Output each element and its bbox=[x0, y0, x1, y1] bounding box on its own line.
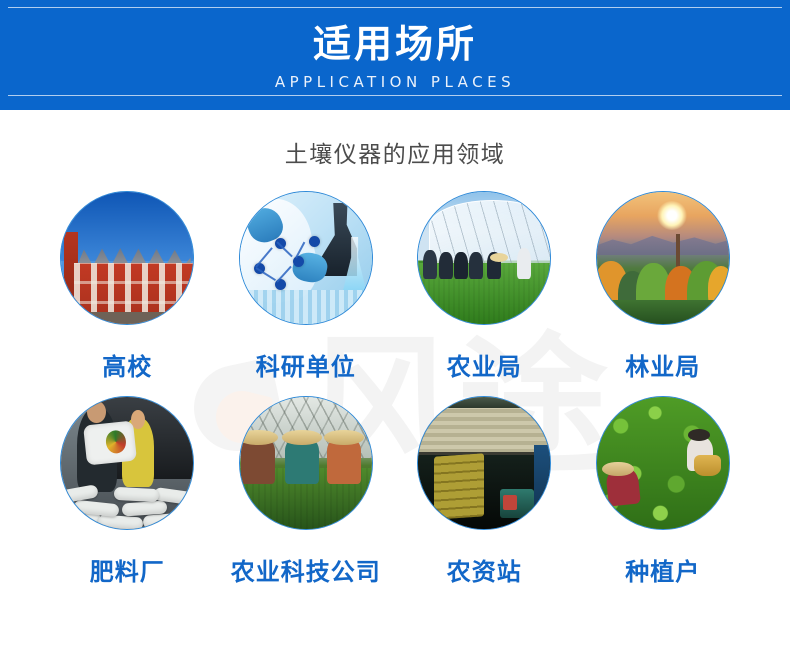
page-title: 适用场所 bbox=[313, 25, 477, 65]
place-image-fertilizer-plant bbox=[60, 396, 194, 530]
application-places-page: 风途 适用场所 APPLICATION PLACES 土壤仪器的应用领域 高校 bbox=[0, 0, 790, 664]
place-image-university bbox=[60, 191, 194, 325]
banner-rule-top bbox=[8, 7, 782, 8]
section-heading: 土壤仪器的应用领域 bbox=[0, 135, 790, 169]
place-image-forestry-bureau bbox=[596, 191, 730, 325]
place-card[interactable]: 肥料厂 bbox=[38, 396, 217, 587]
place-image-agriculture-bureau bbox=[417, 191, 551, 325]
place-image-agritech-company bbox=[239, 396, 373, 530]
place-card[interactable]: 林业局 bbox=[574, 191, 753, 382]
place-image-agri-supply-station bbox=[417, 396, 551, 530]
place-label: 农资站 bbox=[447, 552, 522, 587]
place-label: 农业科技公司 bbox=[231, 552, 381, 587]
banner-rule-bottom bbox=[8, 95, 782, 96]
place-label: 林业局 bbox=[625, 347, 700, 382]
place-card[interactable]: 高校 bbox=[38, 191, 217, 382]
place-card[interactable]: 农业科技公司 bbox=[217, 396, 396, 587]
place-label: 种植户 bbox=[625, 552, 700, 587]
place-label: 科研单位 bbox=[256, 347, 356, 382]
place-card[interactable]: 农资站 bbox=[395, 396, 574, 587]
page-banner: 适用场所 APPLICATION PLACES bbox=[0, 0, 790, 110]
application-places-grid: 高校 科研单位 农业局 bbox=[0, 191, 790, 587]
place-label: 农业局 bbox=[447, 347, 522, 382]
place-label: 高校 bbox=[102, 347, 152, 382]
place-label: 肥料厂 bbox=[90, 552, 165, 587]
place-image-growers bbox=[596, 396, 730, 530]
place-card[interactable]: 种植户 bbox=[574, 396, 753, 587]
place-card[interactable]: 农业局 bbox=[395, 191, 574, 382]
place-image-research-lab bbox=[239, 191, 373, 325]
place-card[interactable]: 科研单位 bbox=[217, 191, 396, 382]
page-subtitle: APPLICATION PLACES bbox=[275, 73, 515, 91]
